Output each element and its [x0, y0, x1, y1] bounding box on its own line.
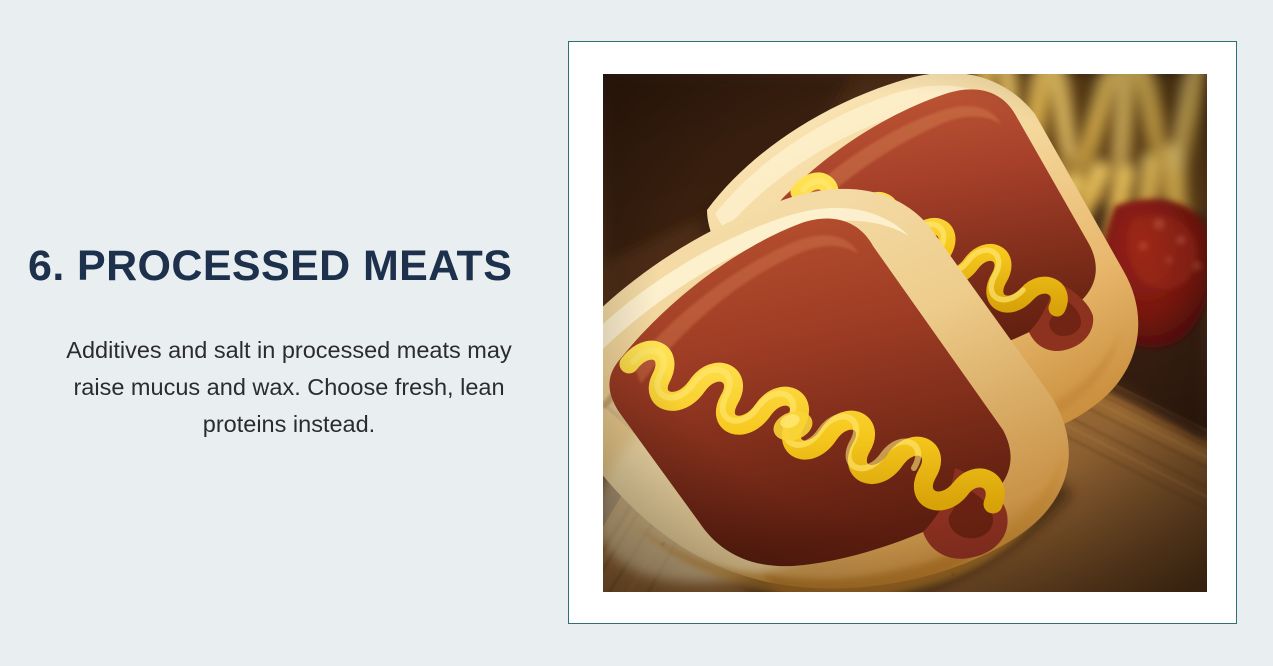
image-frame — [568, 41, 1237, 624]
body-paragraph: Additives and salt in processed meats ma… — [44, 332, 534, 443]
food-photo — [603, 74, 1207, 592]
page-title: 6. PROCESSED MEATS — [28, 244, 548, 289]
slide-root: 6. PROCESSED MEATS Additives and salt in… — [0, 0, 1273, 666]
text-column: 6. PROCESSED MEATS Additives and salt in… — [0, 0, 568, 666]
hot-dog-illustration — [603, 74, 1207, 592]
